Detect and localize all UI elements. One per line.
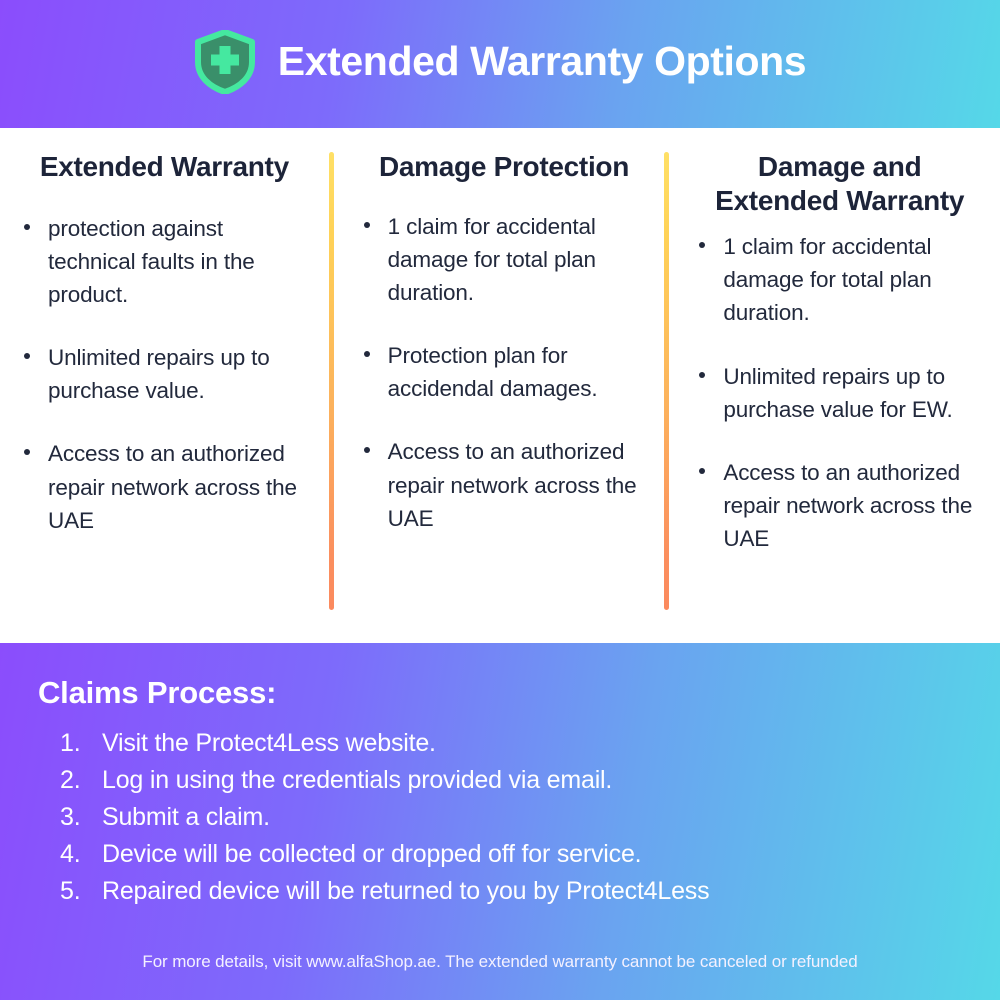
feature-text: protection against technical faults in t… [48, 216, 255, 307]
plan-column-damage-and-extended-warranty: Damage and Extended Warranty 1 claim for… [669, 150, 1000, 643]
plan-heading-line-2: Extended Warranty [697, 184, 982, 218]
header-banner: Extended Warranty Options [0, 0, 1000, 128]
bullet-dot-icon [699, 372, 705, 378]
list-item: 1 claim for accidental damage for total … [697, 230, 982, 329]
list-item: Access to an authorized repair network a… [362, 435, 647, 534]
list-item: Access to an authorized repair network a… [22, 437, 307, 536]
plan-feature-list: 1 claim for accidental damage for total … [697, 230, 982, 555]
bullet-dot-icon [24, 353, 30, 359]
list-item: protection against technical faults in t… [22, 212, 307, 311]
bullet-dot-icon [364, 222, 370, 228]
feature-text: Unlimited repairs up to purchase value. [48, 345, 270, 403]
feature-text: Access to an authorized repair network a… [48, 441, 297, 532]
list-item: Access to an authorized repair network a… [697, 456, 982, 555]
bullet-dot-icon [24, 224, 30, 230]
plan-feature-list: protection against technical faults in t… [22, 212, 307, 537]
feature-text: Access to an authorized repair network a… [388, 439, 637, 530]
footnote-text: For more details, visit www.alfaShop.ae.… [0, 952, 1000, 972]
feature-text: 1 claim for accidental damage for total … [723, 234, 931, 325]
list-item: Submit a claim. [60, 799, 970, 836]
plan-heading-line-1: Damage and [697, 150, 982, 184]
warranty-options-infographic: Extended Warranty Options Extended Warra… [0, 0, 1000, 1000]
list-item: Log in using the credentials provided vi… [60, 762, 970, 799]
bullet-dot-icon [699, 468, 705, 474]
list-item: Visit the Protect4Less website. [60, 725, 970, 762]
plan-heading: Damage and Extended Warranty [697, 150, 982, 218]
bullet-dot-icon [699, 242, 705, 248]
plan-feature-list: 1 claim for accidental damage for total … [362, 210, 647, 535]
page-title: Extended Warranty Options [278, 39, 806, 84]
bullet-dot-icon [24, 449, 30, 455]
list-item: Device will be collected or dropped off … [60, 836, 970, 873]
bullet-dot-icon [364, 447, 370, 453]
shield-health-icon [194, 30, 256, 94]
list-item: 1 claim for accidental damage for total … [362, 210, 647, 309]
list-item: Unlimited repairs up to purchase value. [22, 341, 307, 407]
claims-process-title: Claims Process: [38, 675, 970, 711]
list-item: Protection plan for accidendal damages. [362, 339, 647, 405]
plan-heading: Damage Protection [362, 150, 647, 184]
plan-column-extended-warranty: Extended Warranty protection against tec… [0, 150, 329, 643]
plan-column-damage-protection: Damage Protection 1 claim for accidental… [334, 150, 665, 643]
plan-heading: Extended Warranty [22, 150, 307, 184]
claims-process-section: Claims Process: Visit the Protect4Less w… [0, 643, 1000, 1000]
feature-text: Protection plan for accidendal damages. [388, 343, 598, 401]
claims-process-steps: Visit the Protect4Less website. Log in u… [38, 725, 970, 910]
list-item: Repaired device will be returned to you … [60, 873, 970, 910]
bullet-dot-icon [364, 351, 370, 357]
list-item: Unlimited repairs up to purchase value f… [697, 360, 982, 426]
feature-text: Unlimited repairs up to purchase value f… [723, 364, 952, 422]
feature-text: Access to an authorized repair network a… [723, 460, 972, 551]
plans-comparison: Extended Warranty protection against tec… [0, 128, 1000, 643]
feature-text: 1 claim for accidental damage for total … [388, 214, 596, 305]
